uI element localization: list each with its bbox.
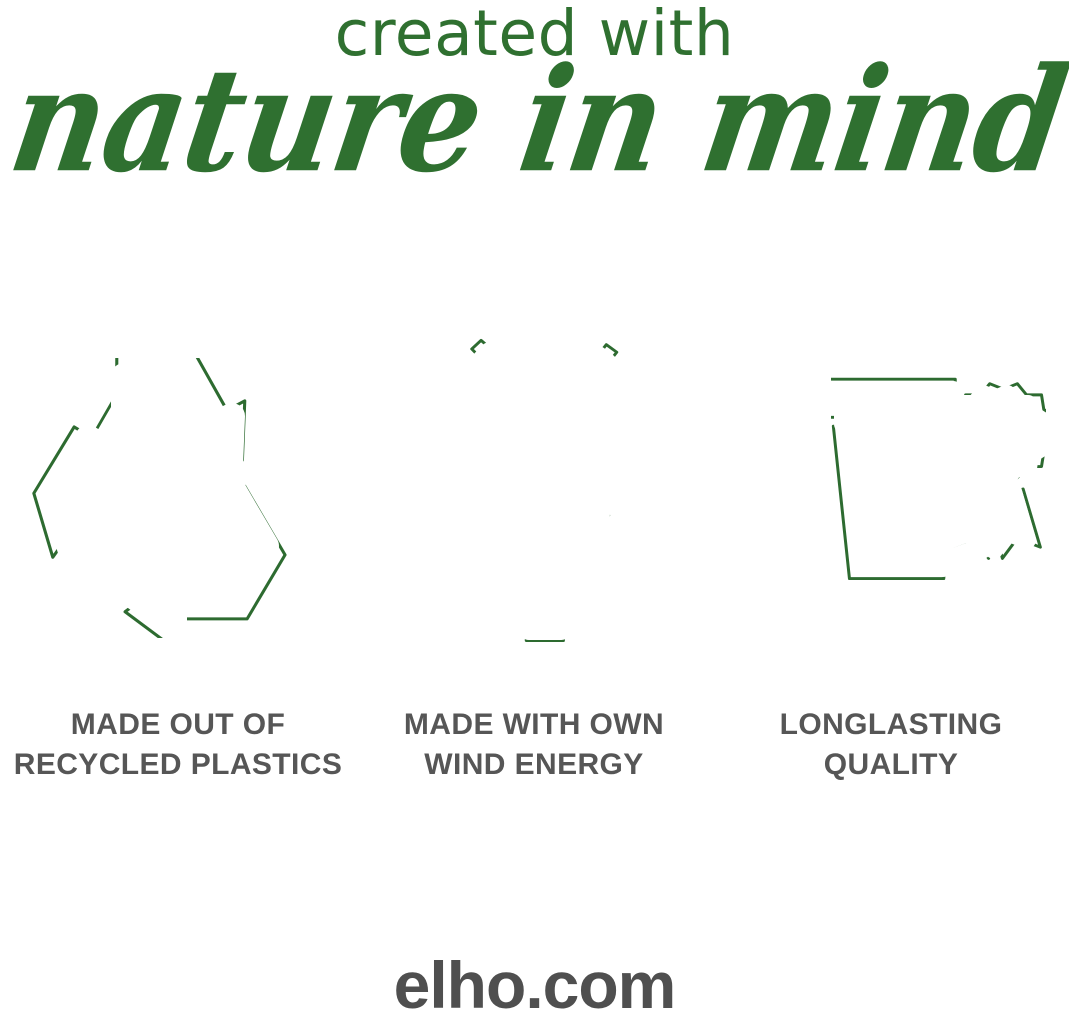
recycle-white-halo xyxy=(54,376,266,626)
feature-label-line1: MADE WITH OWN xyxy=(404,708,664,741)
footer-website[interactable]: elho.com xyxy=(0,952,1069,1018)
quality-pot-badge-icon: 1 xyxy=(831,372,1046,607)
headline-script: nature in mind xyxy=(3,49,1069,192)
feature-label-recycled-plastics: MADE OUT OF RECYCLED PLASTICS xyxy=(0,705,356,785)
feature-label-line2: QUALITY xyxy=(713,745,1069,785)
headline-script-wrap: nature in mind xyxy=(0,60,1069,210)
turbine-white-halo xyxy=(482,352,607,630)
feature-label-line2: RECYCLED PLASTICS xyxy=(0,745,356,785)
feature-label-line1: MADE OUT OF xyxy=(71,708,285,741)
feature-labels-row: MADE OUT OF RECYCLED PLASTICS MADE WITH … xyxy=(0,705,1069,815)
wind-turbine-icon xyxy=(468,338,628,653)
feature-label-line1: LONGLASTING xyxy=(780,708,1003,741)
feature-label-wind-energy: MADE WITH OWN WIND ENERGY xyxy=(356,705,712,785)
badge-number: 1 xyxy=(975,431,1002,484)
feature-label-line2: WIND ENERGY xyxy=(356,745,712,785)
poster-root: created with nature in mind xyxy=(0,0,1069,1024)
recycle-icon xyxy=(18,358,308,643)
headline-block: created with nature in mind xyxy=(0,0,1069,210)
feature-label-longlasting-quality: LONGLASTING QUALITY xyxy=(713,705,1069,785)
